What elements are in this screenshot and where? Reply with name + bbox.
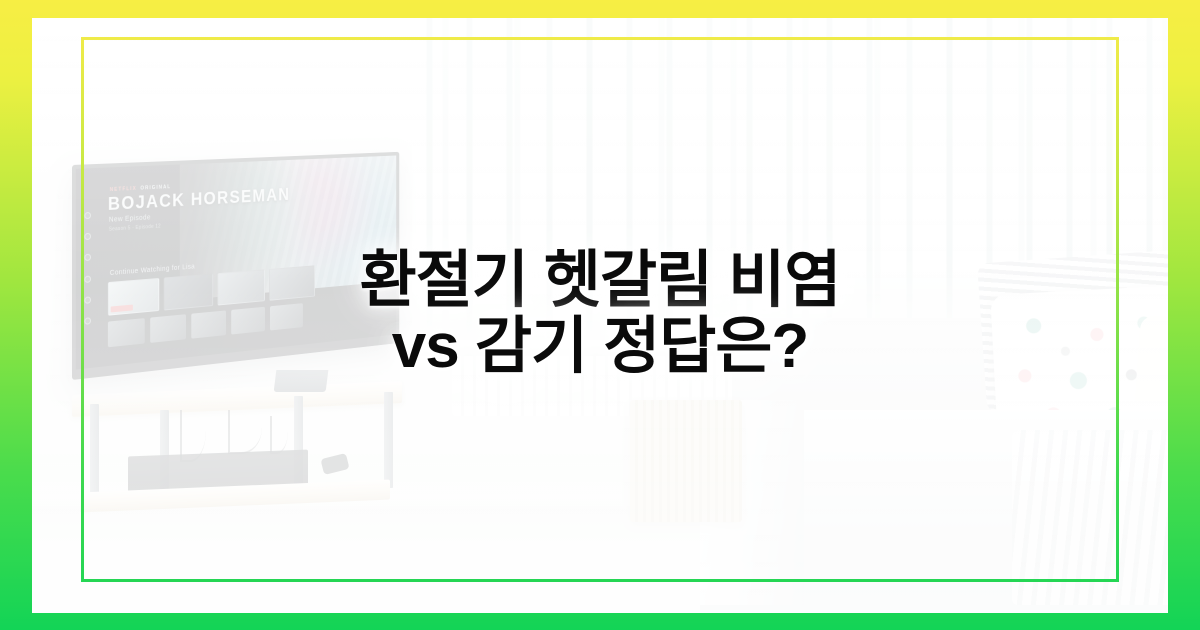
tv-thumbnail[interactable]: [270, 303, 303, 330]
television: NETFLIXORIGINAL BOJACK HORSEMAN New Epis…: [72, 152, 399, 380]
tv-thumbnail[interactable]: [231, 307, 265, 335]
tv-screen: NETFLIXORIGINAL BOJACK HORSEMAN New Epis…: [76, 156, 396, 370]
photo-panel: NETFLIXORIGINAL BOJACK HORSEMAN New Epis…: [32, 18, 1168, 613]
tv-thumbnail[interactable]: [191, 310, 226, 338]
tv-thumbnail[interactable]: [269, 265, 315, 300]
movies-icon[interactable]: [84, 275, 91, 282]
tv-bench-leg: [384, 392, 393, 488]
sofa-ribbed-cushion: [1012, 430, 1168, 605]
tv-thumbnail[interactable]: [108, 318, 145, 347]
tv-thumbnail[interactable]: [217, 269, 265, 305]
my-list-icon[interactable]: [84, 317, 91, 325]
tv-thumbnail[interactable]: [150, 314, 186, 343]
tv-thumbnail[interactable]: [108, 278, 159, 316]
tv-shows-icon[interactable]: [84, 254, 91, 261]
room-photograph: NETFLIXORIGINAL BOJACK HORSEMAN New Epis…: [32, 18, 1168, 613]
thumbnail-card: NETFLIXORIGINAL BOJACK HORSEMAN New Epis…: [0, 0, 1200, 630]
recently-added-icon[interactable]: [84, 296, 91, 304]
tv-bench-leg: [90, 404, 99, 500]
tv-stand: [274, 370, 329, 392]
woven-basket: [630, 400, 742, 522]
home-icon[interactable]: [84, 233, 91, 240]
search-icon[interactable]: [84, 212, 91, 219]
tv-thumbnail[interactable]: [164, 274, 213, 311]
tv-sidebar-nav[interactable]: [80, 212, 95, 325]
